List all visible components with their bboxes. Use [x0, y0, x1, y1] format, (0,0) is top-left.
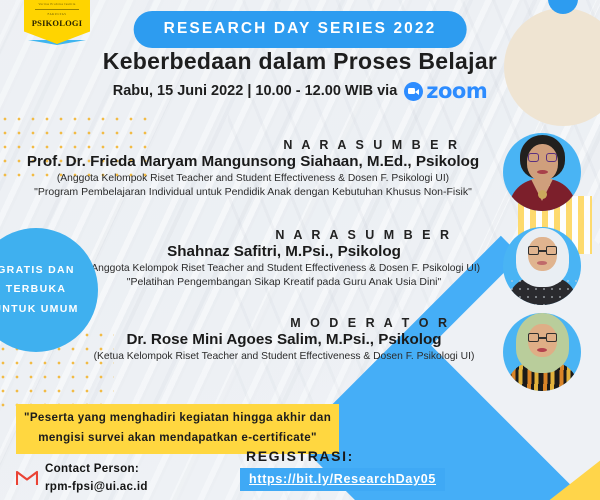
moderator-photo: [503, 313, 581, 391]
registration-label: REGISTRASI:: [246, 448, 354, 464]
gmail-icon: [16, 469, 38, 486]
event-datetime-text: Rabu, 15 Juni 2022 | 10.00 - 12.00 WIB v…: [113, 83, 398, 99]
moderator-role: M O D E R A T O R: [78, 316, 490, 330]
speaker-role-1: N A R A S U M B E R: [18, 138, 488, 152]
speaker-topic-2: "Pelatihan Pengembangan Sikap Kreatif pa…: [78, 276, 490, 288]
avatar-face-2: [503, 227, 581, 305]
moderator-name: Dr. Rose Mini Agoes Salim, M.Psi., Psiko…: [78, 331, 490, 348]
speaker-block-2: N A R A S U M B E R Shahnaz Safitri, M.P…: [78, 228, 490, 288]
zoom-camera-icon: [404, 82, 423, 101]
poster-canvas: Veritas Probitas Iustitia FAKULTAS PSIKO…: [0, 0, 600, 500]
logo-faculty-label: FAKULTAS: [24, 12, 90, 16]
badge-line-1: GRATIS DAN: [0, 261, 75, 280]
moderator-affiliation: (Ketua Kelompok Riset Teacher and Studen…: [78, 351, 490, 362]
contact-email: rpm-fpsi@ui.ac.id: [45, 480, 148, 493]
page-title: Keberbedaan dalam Proses Belajar: [0, 48, 600, 75]
logo-motto: Veritas Probitas Iustitia: [24, 2, 90, 6]
speaker-photo-1: [503, 133, 581, 211]
certificate-note-line-1: "Peserta yang menghadiri kegiatan hingga…: [24, 408, 331, 428]
zoom-wordmark: zoom: [426, 79, 487, 103]
badge-line-2: TERBUKA: [6, 280, 66, 299]
speaker-photo-2: [503, 227, 581, 305]
contact-block: Contact Person: rpm-fpsi@ui.ac.id: [16, 460, 148, 496]
logo-divider: [35, 9, 79, 10]
speaker-block-1: N A R A S U M B E R Prof. Dr. Frieda Mar…: [18, 138, 488, 198]
zoom-logo: zoom: [404, 79, 487, 103]
speaker-name-2: Shahnaz Safitri, M.Psi., Psikolog: [78, 243, 490, 260]
badge-line-3: UNTUK UMUM: [0, 300, 79, 319]
certificate-note-line-2: mengisi survei akan mendapatkan e-certif…: [24, 428, 331, 448]
registration-link[interactable]: https://bit.ly/ResearchDay05: [240, 468, 445, 491]
speaker-affiliation-2: (Anggota Kelompok Riset Teacher and Stud…: [78, 263, 490, 274]
contact-text: Contact Person: rpm-fpsi@ui.ac.id: [45, 460, 148, 496]
event-datetime: Rabu, 15 Juni 2022 | 10.00 - 12.00 WIB v…: [0, 79, 600, 103]
certificate-note: "Peserta yang menghadiri kegiatan hingga…: [16, 404, 339, 454]
speaker-name-1: Prof. Dr. Frieda Maryam Mangunsong Siaha…: [18, 153, 488, 170]
series-pill: RESEARCH DAY SERIES 2022: [134, 11, 467, 48]
avatar-face-1: [503, 133, 581, 211]
contact-label: Contact Person:: [45, 462, 139, 475]
speaker-role-2: N A R A S U M B E R: [78, 228, 490, 242]
avatar-face-3: [503, 313, 581, 391]
logo-department-label: PSIKOLOGI: [24, 18, 90, 28]
speaker-topic-1: "Program Pembelajaran Individual untuk P…: [18, 186, 488, 198]
speaker-affiliation-1: (Anggota Kelompok Riset Teacher and Stud…: [18, 173, 488, 184]
moderator-block: M O D E R A T O R Dr. Rose Mini Agoes Sa…: [78, 316, 490, 362]
